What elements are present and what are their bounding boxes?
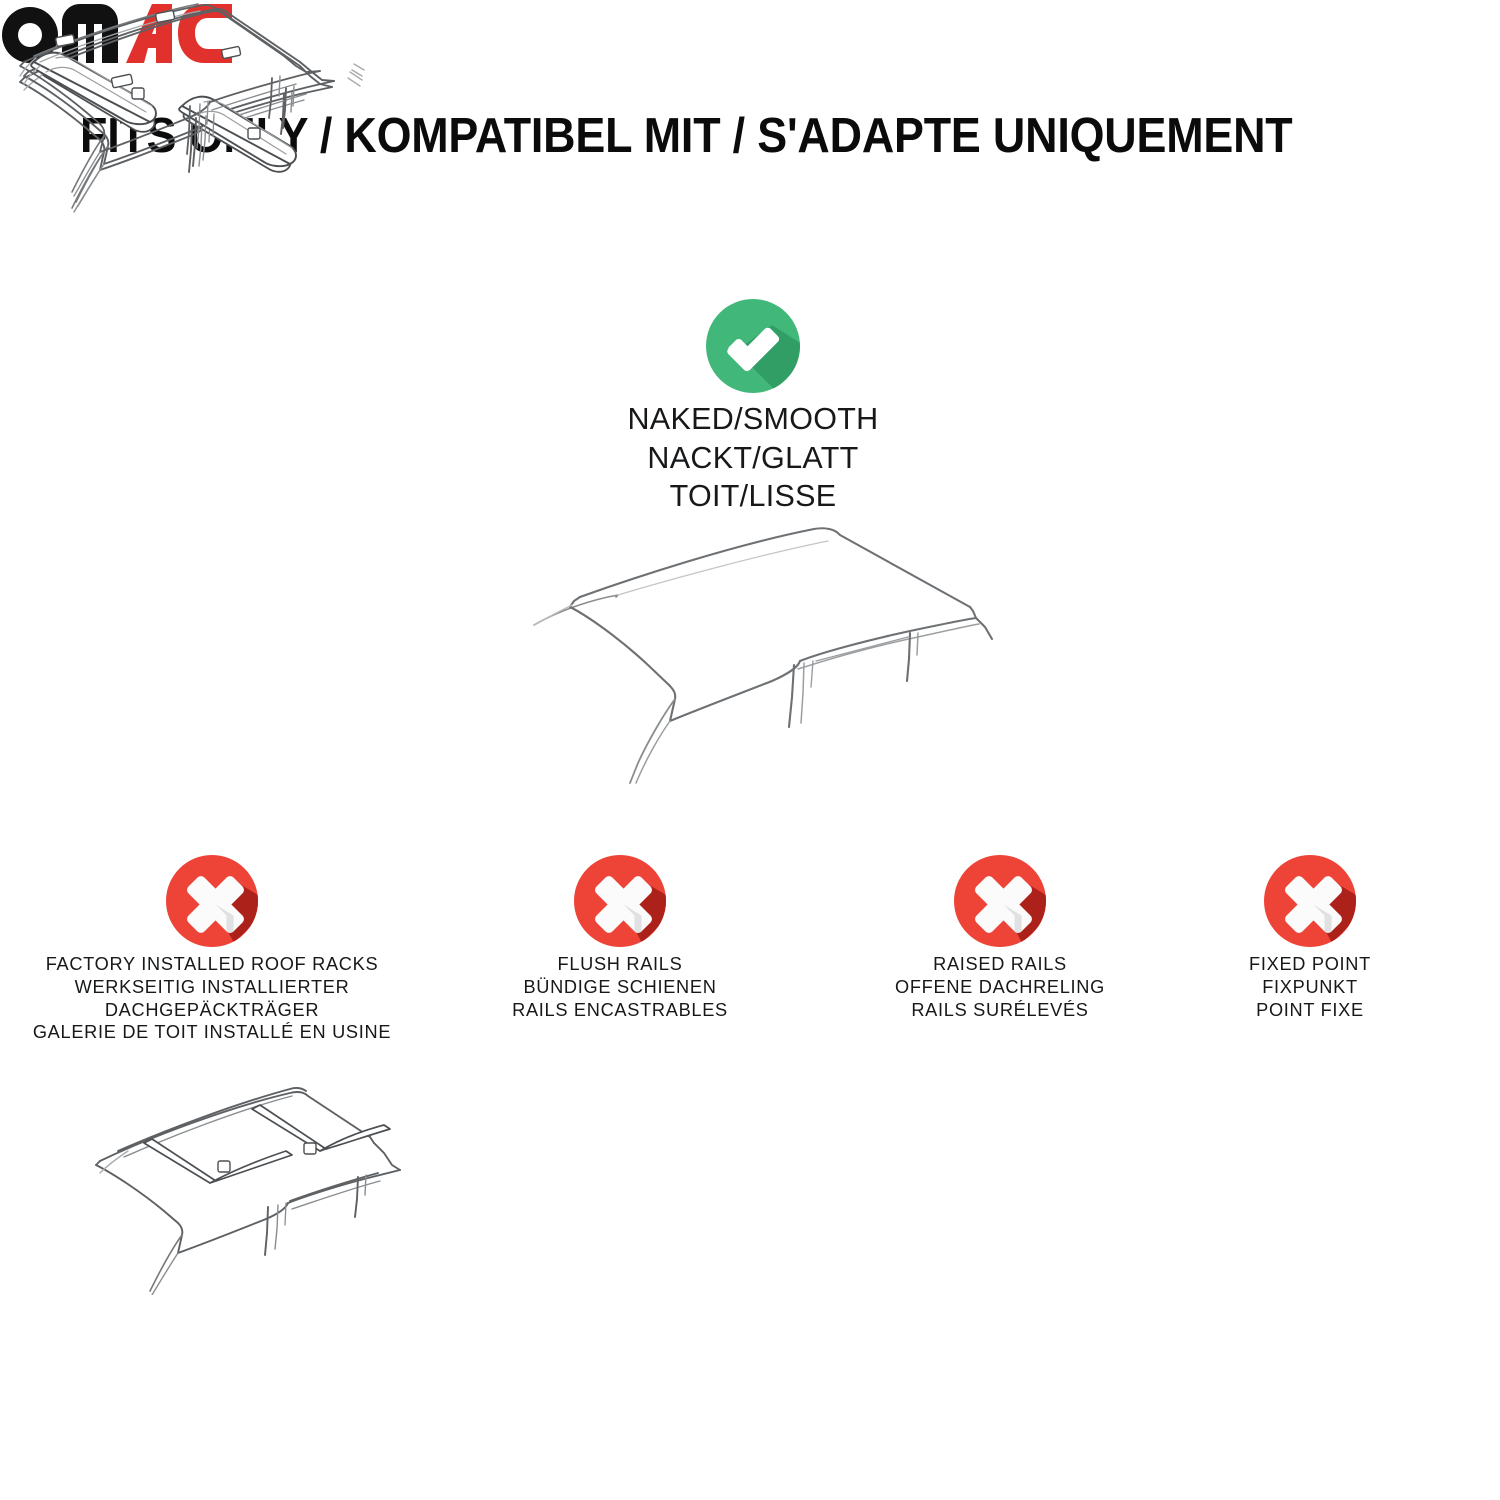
incompatible-label-line: FACTORY INSTALLED ROOF RACKS [12,953,412,976]
incompatible-label-line: RAILS SURÉLEVÉS [805,999,1195,1022]
x-icon-glyph [954,855,1046,947]
incompatible-label-line: FLUSH RAILS [425,953,815,976]
car-roof-fixed-point-illustration [0,0,330,235]
car-roof-naked-smooth-illustration [498,515,1008,795]
check-circle-icon [706,299,800,393]
incompatible-label-line: BÜNDIGE SCHIENEN [425,976,815,999]
compatible-label-line: NACKT/GLATT [555,439,951,478]
x-icon-glyph [1264,855,1356,947]
incompatible-label-line: POINT FIXE [1155,999,1465,1022]
incompatible-label: FACTORY INSTALLED ROOF RACKS WERKSEITIG … [12,953,412,1044]
x-icon-glyph [166,855,258,947]
compatible-label: NAKED/SMOOTH NACKT/GLATT TOIT/LISSE [555,400,951,516]
check-icon-glyph [706,299,800,393]
x-circle-icon [1264,855,1356,947]
incompatible-label-line: RAISED RAILS [805,953,1195,976]
incompatible-label-line: WERKSEITIG INSTALLIERTER [12,976,412,999]
car-roof-factory-rack-illustration [40,1065,440,1295]
incompatible-label-line: RAILS ENCASTRABLES [425,999,815,1022]
x-circle-icon [954,855,1046,947]
x-icon-glyph [574,855,666,947]
incompatible-label-line: FIXPUNKT [1155,976,1465,999]
incompatible-label-line: OFFENE DACHRELING [805,976,1195,999]
incompatible-label: RAISED RAILS OFFENE DACHRELING RAILS SUR… [805,953,1195,1021]
x-circle-icon [166,855,258,947]
incompatible-label: FLUSH RAILS BÜNDIGE SCHIENEN RAILS ENCAS… [425,953,815,1021]
incompatible-label: FIXED POINT FIXPUNKT POINT FIXE [1155,953,1465,1021]
compatible-label-line: NAKED/SMOOTH [555,400,951,439]
incompatible-label-line: GALERIE DE TOIT INSTALLÉ EN USINE [12,1021,412,1044]
compatible-label-line: TOIT/LISSE [555,477,951,516]
incompatible-label-line: DACHGEPÄCKTRÄGER [12,999,412,1022]
x-circle-icon [574,855,666,947]
incompatible-label-line: FIXED POINT [1155,953,1465,976]
